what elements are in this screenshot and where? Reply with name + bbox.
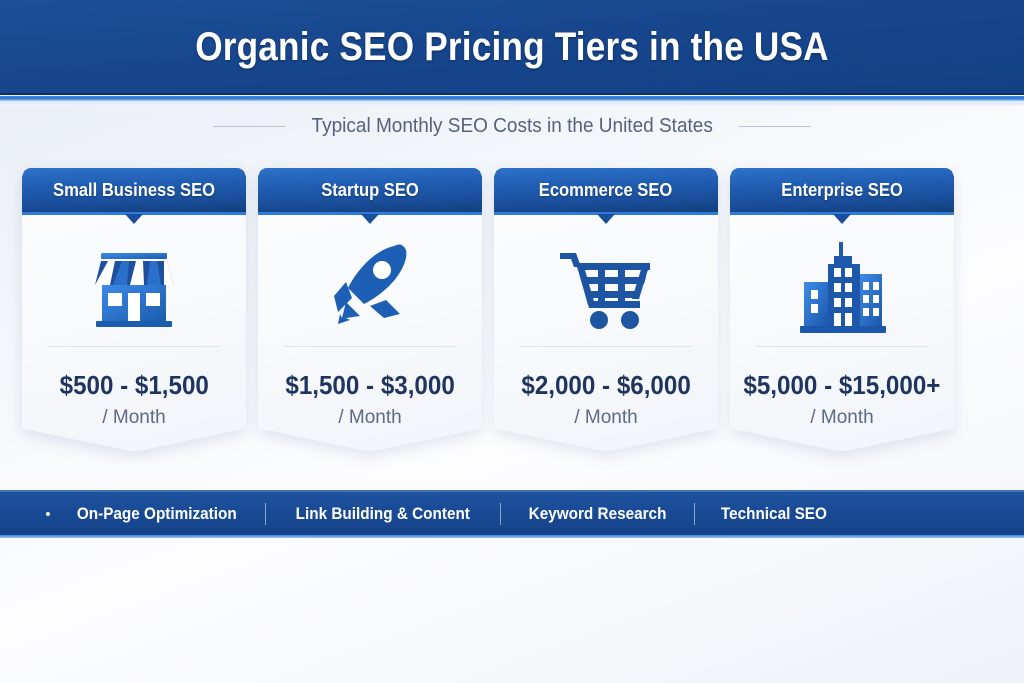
card-shape: Startup SEO — [258, 168, 482, 451]
card-shape: Small Business SEO — [22, 168, 246, 451]
card-notch-arrow — [833, 214, 851, 224]
card-body: $2,000 - $6,000 / Month — [494, 212, 718, 447]
card-body: $5,000 - $15,000+ / Month — [730, 212, 954, 447]
shopping-cart-icon — [554, 236, 658, 340]
card-divider — [284, 346, 456, 347]
rocket-icon — [320, 236, 420, 340]
subtitle-rule-right — [739, 126, 811, 127]
card-title: Startup SEO — [321, 180, 419, 201]
card-divider — [48, 346, 220, 347]
card-title: Ecommerce SEO — [539, 180, 672, 201]
card-body: $500 - $1,500 / Month — [22, 212, 246, 447]
card-body: $1,500 - $3,000 / Month — [258, 212, 482, 447]
footer-service-item[interactable]: Keyword Research — [519, 504, 675, 524]
footer-separator — [500, 503, 501, 525]
header-banner: Organic SEO Pricing Tiers in the USA — [0, 0, 1024, 94]
office-building-icon — [790, 236, 894, 340]
card-price: $5,000 - $15,000+ — [744, 370, 941, 401]
card-title: Small Business SEO — [53, 180, 215, 201]
card-header: Startup SEO — [258, 168, 482, 212]
pricing-card[interactable]: Startup SEO — [258, 168, 482, 451]
footer-items: • On-Page Optimization Link Building & C… — [45, 503, 842, 525]
footer-service-item[interactable]: Technical SEO — [712, 504, 836, 524]
card-period: / Month — [102, 407, 165, 429]
footer-service-item[interactable]: On-Page Optimization — [68, 504, 246, 524]
card-shape: Enterprise SEO — [730, 168, 954, 451]
infographic-canvas: Organic SEO Pricing Tiers in the USA Typ… — [0, 0, 1024, 683]
footer-separator — [694, 503, 695, 525]
pricing-card-row: Small Business SEO — [22, 168, 1002, 451]
pricing-card[interactable]: Small Business SEO — [22, 168, 246, 451]
card-shape: Ecommerce SEO — [494, 168, 718, 451]
card-notch-arrow — [125, 214, 143, 224]
card-divider — [520, 346, 692, 347]
card-title: Enterprise SEO — [781, 180, 902, 201]
card-period: / Month — [574, 407, 637, 429]
subtitle-row: Typical Monthly SEO Costs in the United … — [0, 115, 1024, 138]
footer-services-bar: • On-Page Optimization Link Building & C… — [0, 490, 1024, 538]
pricing-card[interactable]: Enterprise SEO — [730, 168, 954, 451]
card-header: Enterprise SEO — [730, 168, 954, 212]
card-notch-arrow — [361, 214, 379, 224]
card-notch-arrow — [597, 214, 615, 224]
pricing-card[interactable]: Ecommerce SEO — [494, 168, 718, 451]
card-price: $500 - $1,500 — [59, 370, 208, 401]
subtitle-text: Typical Monthly SEO Costs in the United … — [311, 115, 712, 138]
card-divider — [756, 346, 928, 347]
footer-service-item[interactable]: Link Building & Content — [287, 504, 479, 524]
card-period: / Month — [810, 407, 873, 429]
footer-separator — [265, 503, 266, 525]
subtitle-rule-left — [213, 126, 285, 127]
bullet-icon: • — [45, 507, 50, 522]
header-accent-fade — [0, 101, 1024, 106]
storefront-icon — [82, 236, 186, 340]
page-title: Organic SEO Pricing Tiers in the USA — [195, 25, 829, 70]
card-header: Ecommerce SEO — [494, 168, 718, 212]
card-price: $1,500 - $3,000 — [285, 370, 454, 401]
card-price: $2,000 - $6,000 — [521, 370, 690, 401]
card-header: Small Business SEO — [22, 168, 246, 212]
card-period: / Month — [338, 407, 401, 429]
